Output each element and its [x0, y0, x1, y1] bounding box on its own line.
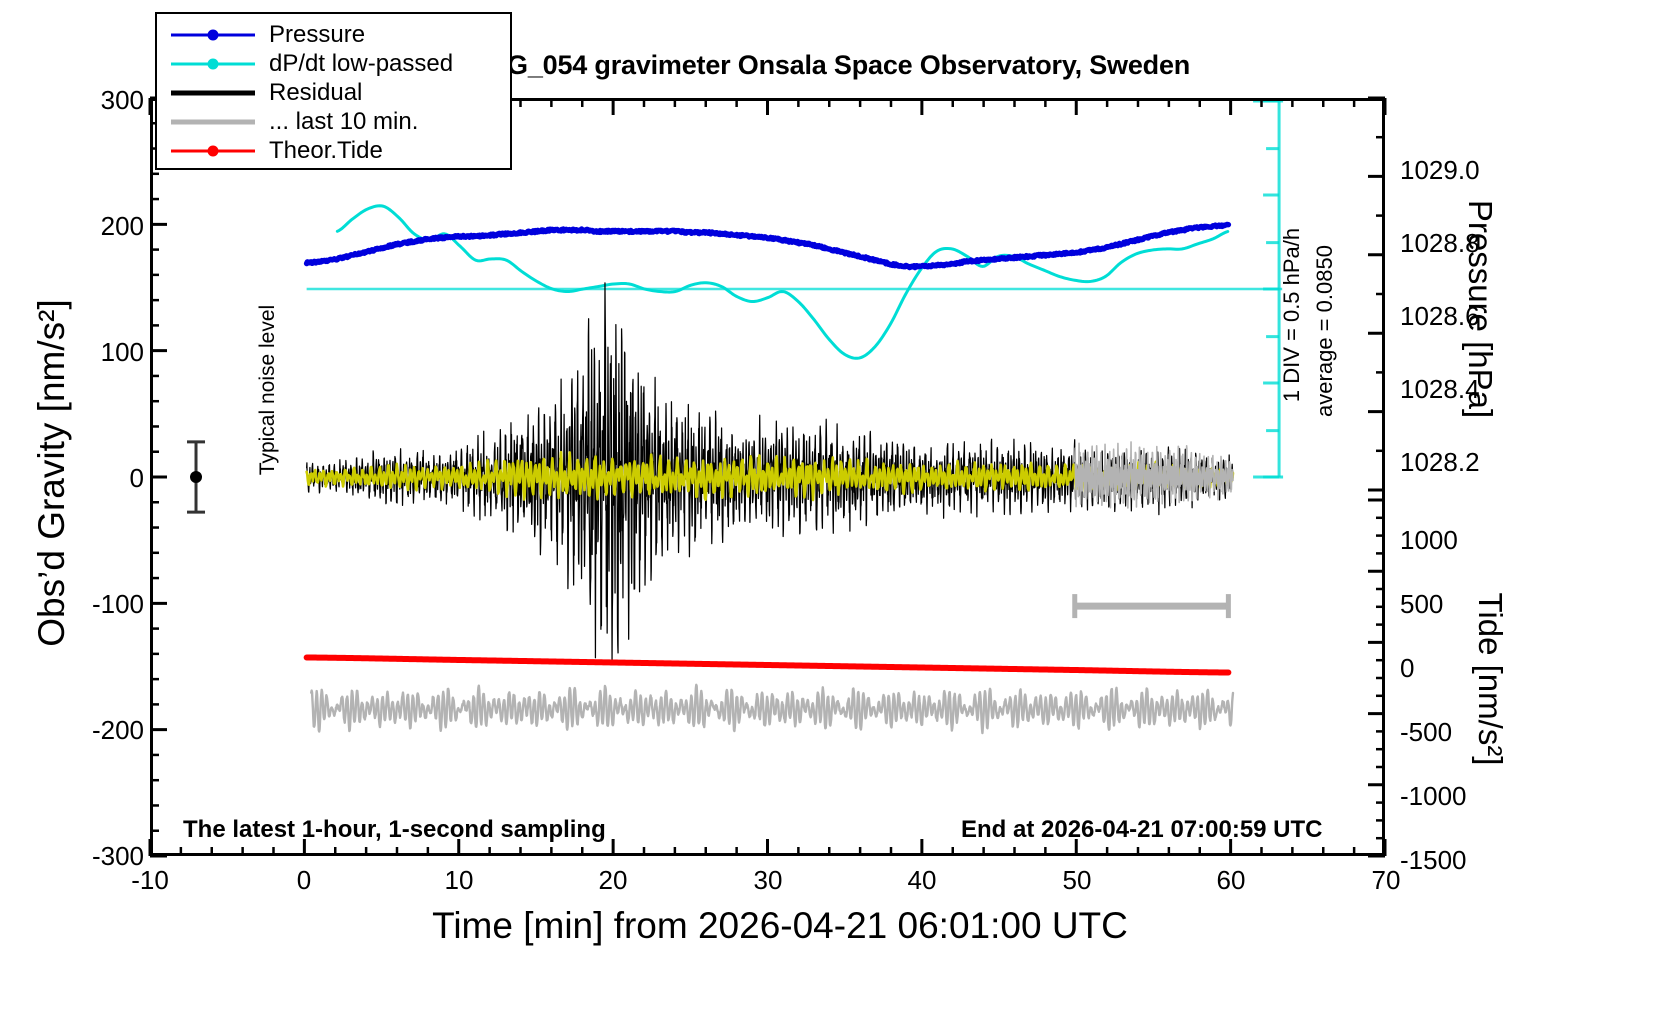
legend-item-pressure[interactable]: Pressure	[157, 20, 510, 49]
div-scale-annotation: 1 DIV = 0.5 hPa/h	[1279, 195, 1305, 435]
x-tick-neg10: -10	[131, 865, 169, 896]
gravimeter-chart-page: SCG_054 gravimeter Onsala Space Observat…	[0, 0, 1660, 1020]
y-tick-left-neg100: -100	[92, 589, 144, 620]
legend-item-last10[interactable]: ... last 10 min.	[157, 107, 510, 136]
legend-item-dpdt[interactable]: dP/dt low-passed	[157, 49, 510, 78]
y-tick-tide-0: 0	[1400, 653, 1414, 684]
series-tide-scale-grey	[311, 685, 1233, 733]
y-tick-tide-neg500: -500	[1400, 717, 1452, 748]
x-tick-10: 10	[445, 865, 474, 896]
plot-svg	[153, 101, 1382, 853]
series-dpdt-low-passed	[337, 206, 1227, 359]
legend-swatch-theortide	[171, 140, 255, 162]
y-tick-left-0: 0	[130, 463, 144, 494]
typical-noise-level-label: Typical noise level	[256, 250, 280, 530]
legend-swatch-last10	[171, 111, 255, 133]
y-axis-label-tide: Tide [nm/s²]	[1471, 529, 1509, 829]
legend-label-residual: Residual	[255, 79, 362, 107]
x-axis-label: Time [min] from 2026-04-21 06:01:00 UTC	[0, 905, 1560, 947]
series-pressure	[307, 225, 1229, 268]
legend-item-residual[interactable]: Residual	[157, 78, 510, 107]
legend-label-theortide: Theor.Tide	[255, 137, 383, 165]
noise-errorbar-dot	[190, 471, 202, 483]
legend-label-dpdt: dP/dt low-passed	[255, 50, 453, 78]
legend-swatch-dpdt	[171, 53, 255, 75]
average-annotation: average = 0.0850	[1312, 211, 1338, 451]
y-tick-left-300: 300	[101, 85, 144, 116]
x-tick-40: 40	[908, 865, 937, 896]
y-tick-left-100: 100	[101, 337, 144, 368]
x-tick-30: 30	[754, 865, 783, 896]
legend-swatch-pressure	[171, 24, 255, 46]
y-tick-tide-500: 500	[1400, 589, 1443, 620]
plot-inner	[153, 101, 1382, 853]
x-tick-70: 70	[1372, 865, 1401, 896]
x-tick-0: 0	[297, 865, 311, 896]
y-tick-pressure-1029-0: 1029.0	[1400, 155, 1480, 186]
legend: Pressure dP/dt low-passed Residual ... l…	[155, 12, 512, 170]
y-tick-tide-1000: 1000	[1400, 525, 1458, 556]
plot-area	[150, 98, 1385, 856]
y-tick-pressure-1028-6: 1028.6	[1400, 301, 1480, 332]
y-tick-pressure-1028-8: 1028.8	[1400, 228, 1480, 259]
legend-label-pressure: Pressure	[255, 21, 365, 49]
y-tick-left-200: 200	[101, 211, 144, 242]
legend-label-last10: ... last 10 min.	[255, 108, 418, 136]
y-tick-pressure-1028-2: 1028.2	[1400, 447, 1480, 478]
x-tick-60: 60	[1217, 865, 1246, 896]
footer-right-note: End at 2026-04-21 07:00:59 UTC	[961, 816, 1323, 844]
legend-item-theortide[interactable]: Theor.Tide	[157, 136, 510, 165]
y-tick-tide-neg1000: -1000	[1400, 781, 1467, 812]
x-tick-50: 50	[1063, 865, 1092, 896]
y-tick-tide-neg1500: -1500	[1400, 845, 1467, 876]
x-tick-20: 20	[599, 865, 628, 896]
y-tick-pressure-1028-4: 1028.4	[1400, 374, 1480, 405]
legend-swatch-residual	[171, 82, 255, 104]
series-theor-tide	[307, 657, 1229, 672]
footer-left-note: The latest 1-hour, 1-second sampling	[183, 816, 606, 844]
y-axis-label-left: Obs’d Gravity [nm/s²]	[31, 193, 73, 753]
y-tick-left-neg200: -200	[92, 715, 144, 746]
